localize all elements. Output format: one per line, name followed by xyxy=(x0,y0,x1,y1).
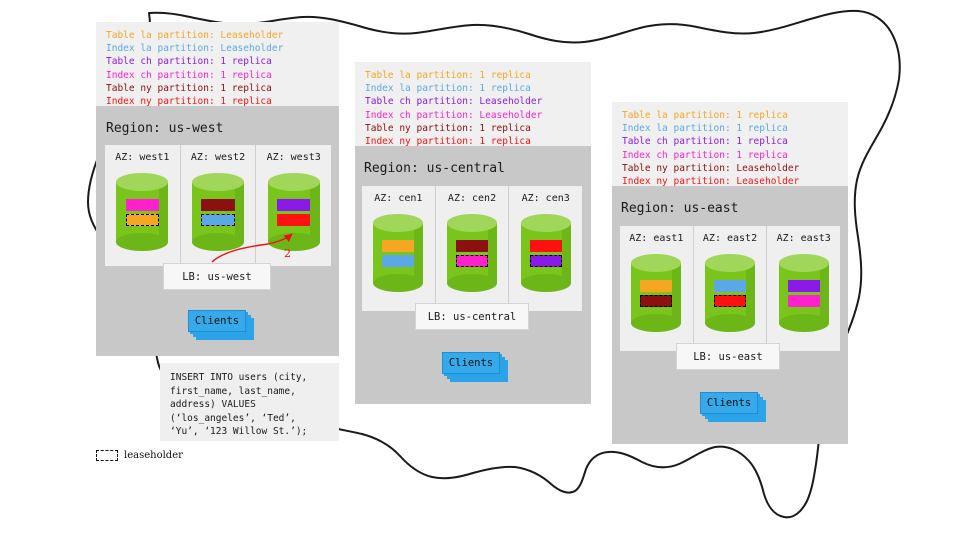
az-cell-east2[interactable]: AZ: east2 xyxy=(694,226,768,351)
partition-box-us-central: Table la partition: 1 replica Index la p… xyxy=(355,62,591,146)
replica-bar xyxy=(126,214,159,226)
cylinder-bottom xyxy=(447,274,497,292)
insert-statement-box: INSERT INTO users (city, first_name, las… xyxy=(160,363,339,441)
replica-bar xyxy=(788,280,820,292)
replica-bars xyxy=(373,240,423,267)
cylinder-top xyxy=(521,214,571,232)
partition-line: Index ch partition: 1 replica xyxy=(622,149,838,162)
az-label: AZ: east2 xyxy=(694,233,767,244)
replica-bars xyxy=(268,199,320,226)
database-cylinder[interactable] xyxy=(116,173,168,251)
leaseholder-swatch-icon xyxy=(96,450,118,461)
az-cell-cen2[interactable]: AZ: cen2 xyxy=(436,186,510,311)
replica-bar xyxy=(277,199,310,211)
replica-bar xyxy=(530,255,562,267)
database-cylinder[interactable] xyxy=(631,254,681,332)
az-cell-east1[interactable]: AZ: east1 xyxy=(620,226,694,351)
region-title-us-central: Region: us-central xyxy=(364,161,505,176)
az-label: AZ: cen1 xyxy=(362,193,435,204)
replica-bars xyxy=(521,240,571,267)
az-label: AZ: west1 xyxy=(105,152,180,163)
database-cylinder[interactable] xyxy=(447,214,497,292)
az-label: AZ: cen2 xyxy=(436,193,509,204)
az-label: AZ: east1 xyxy=(620,233,693,244)
sql-line: ‘Yu’, ‘123 Willow St.’); xyxy=(170,425,329,439)
sql-line: (‘los_angeles’, ‘Ted’, xyxy=(170,412,329,426)
database-cylinder[interactable] xyxy=(192,173,244,251)
cylinder-top xyxy=(779,254,829,272)
legend-label: leaseholder xyxy=(124,450,183,461)
az-strip-us-central: AZ: cen1 AZ: cen2 xyxy=(362,186,582,311)
az-cell-cen3[interactable]: AZ: cen3 xyxy=(509,186,582,311)
clients-label[interactable]: Clients xyxy=(188,310,246,332)
replica-bar xyxy=(201,214,234,226)
cylinder-top xyxy=(192,173,244,191)
az-cell-west3[interactable]: AZ: west3 xyxy=(256,145,331,266)
partition-line: Index ch partition: 1 replica xyxy=(106,69,329,82)
replica-bar xyxy=(530,240,562,252)
cylinder-bottom xyxy=(268,233,320,251)
partition-line: Table la partition: Leaseholder xyxy=(106,29,329,42)
clients-us-east[interactable]: Clients xyxy=(700,392,766,422)
az-label: AZ: west2 xyxy=(181,152,256,163)
cylinder-bottom xyxy=(521,274,571,292)
replica-bars xyxy=(116,199,168,226)
arrow-step-number: 2 xyxy=(284,247,291,260)
replica-bars xyxy=(447,240,497,267)
replica-bar xyxy=(714,280,746,292)
cylinder-top xyxy=(268,173,320,191)
replica-bar xyxy=(456,255,488,267)
replica-bar xyxy=(788,295,820,307)
cylinder-bottom xyxy=(631,314,681,332)
region-title-us-east: Region: us-east xyxy=(621,201,738,216)
partition-line: Index ny partition: 1 replica xyxy=(106,95,329,108)
replica-bars xyxy=(631,280,681,307)
sql-line: first_name, last_name, xyxy=(170,385,329,399)
database-cylinder[interactable] xyxy=(705,254,755,332)
database-cylinder[interactable] xyxy=(779,254,829,332)
cylinder-bottom xyxy=(779,314,829,332)
partition-line: Table ny partition: Leaseholder xyxy=(622,162,838,175)
replica-bars xyxy=(192,199,244,226)
replica-bars xyxy=(779,280,829,307)
partition-line: Table la partition: 1 replica xyxy=(365,69,581,82)
partition-line: Table ch partition: Leaseholder xyxy=(365,95,581,108)
az-cell-east3[interactable]: AZ: east3 xyxy=(767,226,840,351)
partition-line: Index ny partition: Leaseholder xyxy=(622,175,838,188)
replica-bar xyxy=(714,295,746,307)
database-cylinder[interactable] xyxy=(521,214,571,292)
sql-line: INSERT INTO users (city, xyxy=(170,371,329,385)
database-cylinder[interactable] xyxy=(268,173,320,251)
clients-label[interactable]: Clients xyxy=(442,352,500,374)
replica-bar xyxy=(640,280,672,292)
replica-bar xyxy=(126,199,159,211)
az-label: AZ: cen3 xyxy=(509,193,582,204)
replica-bars xyxy=(705,280,755,307)
cylinder-top xyxy=(705,254,755,272)
cylinder-bottom xyxy=(705,314,755,332)
replica-bar xyxy=(456,240,488,252)
replica-bar xyxy=(277,214,310,226)
partition-line: Table la partition: 1 replica xyxy=(622,109,838,122)
az-label: AZ: east3 xyxy=(767,233,840,244)
az-strip-us-east: AZ: east1 AZ: east2 xyxy=(620,226,840,351)
partition-line: Index ny partition: 1 replica xyxy=(365,135,581,148)
partition-line: Table ch partition: 1 replica xyxy=(622,135,838,148)
replica-bar xyxy=(640,295,672,307)
az-cell-cen1[interactable]: AZ: cen1 xyxy=(362,186,436,311)
partition-line: Index la partition: 1 replica xyxy=(622,122,838,135)
replica-bar xyxy=(382,240,414,252)
partition-line: Index la partition: Leaseholder xyxy=(106,42,329,55)
cylinder-top xyxy=(373,214,423,232)
partition-line: Table ny partition: 1 replica xyxy=(365,122,581,135)
partition-line: Index ch partition: Leaseholder xyxy=(365,109,581,122)
region-title-us-west: Region: us-west xyxy=(106,121,223,136)
load-balancer-us-west[interactable]: LB: us-west xyxy=(163,263,271,290)
replica-bar xyxy=(382,255,414,267)
cylinder-bottom xyxy=(192,233,244,251)
load-balancer-us-east[interactable]: LB: us-east xyxy=(676,343,780,370)
clients-label[interactable]: Clients xyxy=(700,392,758,414)
az-label: AZ: west3 xyxy=(256,152,331,163)
az-strip-us-west: AZ: west1 AZ: west2 xyxy=(105,145,331,266)
az-cell-west1[interactable]: AZ: west1 xyxy=(105,145,181,266)
partition-box-us-west: Table la partition: Leaseholder Index la… xyxy=(96,22,339,106)
cylinder-bottom xyxy=(116,233,168,251)
sql-line: address) VALUES xyxy=(170,398,329,412)
partition-line: Index la partition: 1 replica xyxy=(365,82,581,95)
legend: leaseholder xyxy=(96,450,183,461)
cylinder-top xyxy=(631,254,681,272)
cylinder-top xyxy=(447,214,497,232)
partition-line: Table ch partition: 1 replica xyxy=(106,55,329,68)
load-balancer-us-central[interactable]: LB: us-central xyxy=(415,303,529,330)
cylinder-bottom xyxy=(373,274,423,292)
cylinder-top xyxy=(116,173,168,191)
replica-bar xyxy=(201,199,234,211)
database-cylinder[interactable] xyxy=(373,214,423,292)
az-cell-west2[interactable]: AZ: west2 xyxy=(181,145,257,266)
clients-us-west[interactable]: Clients xyxy=(188,310,254,340)
clients-us-central[interactable]: Clients xyxy=(442,352,508,382)
diagram-canvas: Table la partition: Leaseholder Index la… xyxy=(0,0,960,540)
partition-line: Table ny partition: 1 replica xyxy=(106,82,329,95)
partition-box-us-east: Table la partition: 1 replica Index la p… xyxy=(612,102,848,186)
